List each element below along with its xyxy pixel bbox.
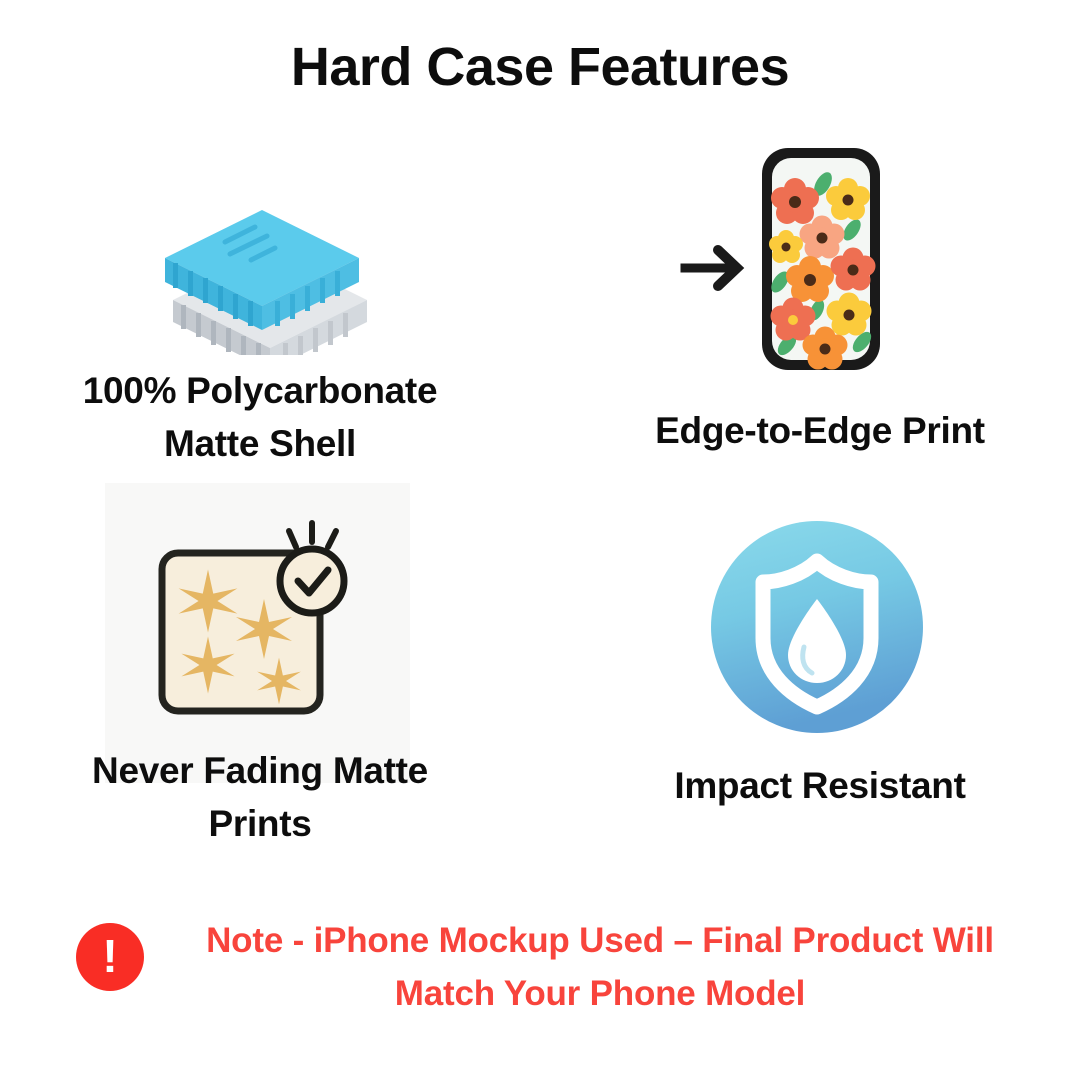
- note-text: Note - iPhone Mockup Used – Final Produc…: [150, 915, 1050, 1020]
- shield-droplet-icon: [710, 520, 925, 735]
- feature-label-line1: Impact Resistant: [674, 765, 965, 806]
- feature-item-never-fading-prints: Never Fading Matte Prints: [0, 490, 520, 695]
- feature-label-never-fading-prints: Never Fading Matte Prints: [20, 745, 500, 850]
- feature-label-line1: Never Fading Matte: [92, 750, 428, 791]
- arrow-right-icon: [685, 250, 737, 286]
- feature-label-line1: 100% Polycarbonate: [83, 370, 437, 411]
- note-line-1: Note - iPhone Mockup Used – Final Produc…: [206, 921, 994, 960]
- page-title: Hard Case Features: [0, 36, 1080, 98]
- phone-case-floral-icon: [680, 140, 940, 380]
- note-line-2: Match Your Phone Model: [150, 968, 1050, 1021]
- feature-label-line1: Edge-to-Edge Print: [655, 410, 985, 451]
- feature-panel: Hard Case Features: [0, 0, 1080, 1080]
- feature-label-line2: Prints: [208, 803, 311, 844]
- layered-slab-icon: [155, 180, 385, 355]
- exclamation-glyph: !: [102, 933, 117, 979]
- feature-label-impact-resistant: Impact Resistant: [590, 760, 1050, 813]
- feature-label-line2: Matte Shell: [164, 423, 356, 464]
- exclamation-circle-icon: !: [76, 923, 144, 991]
- feature-item-edge-to-edge-print: Edge-to-Edge Print: [560, 130, 1080, 370]
- feature-item-impact-resistant: Impact Resistant: [560, 505, 1080, 720]
- feature-label-edge-to-edge-print: Edge-to-Edge Print: [590, 405, 1050, 458]
- feature-item-polycarbonate-shell: 100% Polycarbonate Matte Shell: [0, 160, 520, 335]
- feature-label-polycarbonate-shell: 100% Polycarbonate Matte Shell: [30, 365, 490, 470]
- sparkle-panel-check-icon: [150, 515, 365, 720]
